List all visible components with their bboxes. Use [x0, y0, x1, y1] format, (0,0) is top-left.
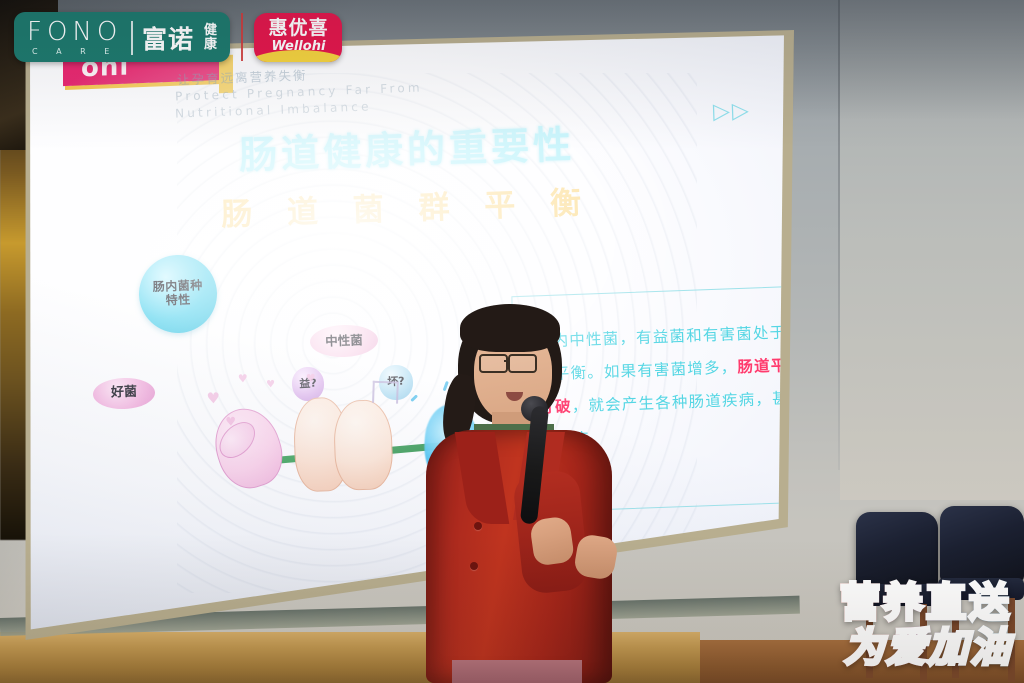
good-bacteria-character [206, 400, 292, 496]
bubble-label: 肠内菌种 特性 [153, 279, 204, 308]
fono-tagline: C A R E [32, 48, 117, 56]
fono-care-logo: FONO C A R E 富诺 健 康 [14, 12, 230, 62]
presentation-photo: ohi 让孕育远离营养失衡 Protect Pregnancy Far From… [0, 0, 1024, 683]
fono-chinese-stack: 健 康 [204, 24, 217, 51]
logo-bar-separator [241, 13, 244, 61]
bubble-good-bacteria: 好菌 [92, 377, 155, 410]
heart-icon: ♥ [306, 372, 316, 385]
glasses-left-lens [479, 354, 508, 373]
coat-button [474, 522, 482, 530]
fork-icon [372, 381, 399, 404]
watermark-line-2: 为爱加油 [840, 626, 1012, 671]
heart-icon: ♥ [225, 414, 236, 428]
fono-chinese-stack-bottom: 康 [204, 38, 217, 51]
skirt [452, 660, 582, 683]
neutral-bacteria-character-b [333, 399, 394, 491]
hair-front [460, 304, 560, 352]
bubble-label: 中性菌 [325, 333, 363, 349]
coat-button [470, 562, 478, 570]
logo-bar: FONO C A R E 富诺 健 康 惠优喜 Wellohi [14, 12, 342, 62]
fono-chinese-stack-top: 健 [204, 24, 217, 37]
glasses-bridge [504, 360, 510, 362]
bubble-label: 好菌 [111, 386, 138, 402]
wellohi-chinese-name: 惠优喜 [268, 19, 328, 38]
good-bacteria-ear [213, 415, 262, 465]
logo-divider [131, 21, 133, 55]
glasses-right-lens [508, 354, 537, 373]
presenter [400, 300, 630, 683]
chair-backrest [856, 512, 938, 588]
heart-icon: ♥ [266, 379, 275, 390]
wellohi-logo: 惠优喜 Wellohi [254, 13, 342, 62]
fono-wordmark: FONO [27, 19, 122, 45]
heart-icon: ♥ [238, 372, 248, 385]
watermark-line-1: 营养直送 [840, 581, 1012, 626]
fono-wordmark-group: FONO C A R E [27, 19, 122, 56]
chair-backrest [940, 506, 1024, 582]
fono-chinese-name: 富诺 [142, 20, 194, 56]
watermark: 营养直送 为爱加油 [840, 581, 1012, 671]
heart-icon: ♥ [206, 389, 220, 407]
